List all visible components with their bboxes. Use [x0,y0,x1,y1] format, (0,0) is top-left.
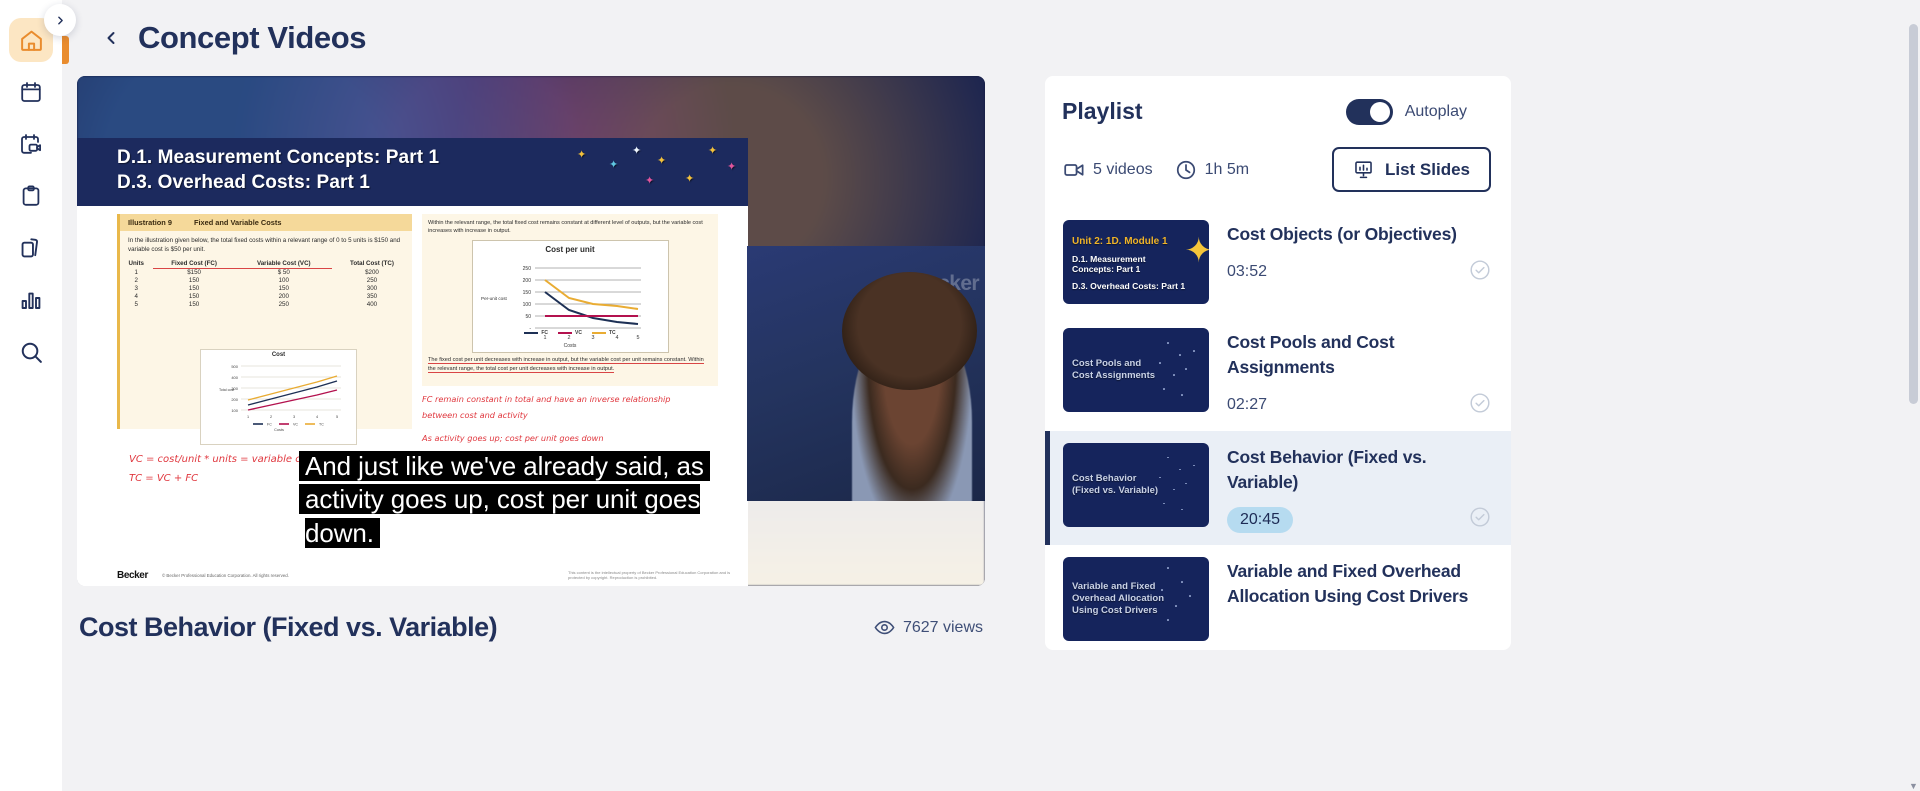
svg-text:5: 5 [336,415,338,419]
legend-label: VC [575,330,582,336]
list-slides-button[interactable]: List Slides [1332,147,1491,192]
cell: 2 [120,277,153,285]
cards-icon [19,236,44,261]
playlist-thumbnail: Cost Behavior (Fixed vs. Variable) [1063,443,1209,527]
table-row: 4 150 200 350 [120,293,412,301]
playlist-item-duration: 20:45 [1227,507,1293,533]
legend-fc: FC [524,330,548,336]
sidebar-item-search[interactable] [9,330,53,374]
illustration-table: Units Fixed Cost (FC) Variable Cost (VC)… [120,259,412,309]
playlist-thumbnail: Cost Pools and Cost Assignments [1063,328,1209,412]
svg-text:200: 200 [231,397,238,402]
svg-text:400: 400 [231,375,238,380]
sidebar-item-performance[interactable] [9,278,53,322]
sparkle-icon: ✦ [685,174,694,185]
playlist-item-title: Variable and Fixed Overhead Allocation U… [1227,559,1491,609]
playlist-item-meta: 02:27 [1227,392,1491,419]
thumbnail-text: Variable and Fixed Overhead Allocation U… [1072,582,1164,618]
legend-vc: VC [558,330,582,336]
svg-text:FC: FC [267,423,272,427]
playlist-item-body: Cost Objects (or Objectives) 03:52 [1227,220,1491,286]
right-explanation-card: Within the relevant range, the total fix… [422,214,718,386]
views-count: 7627 views [903,619,983,637]
left-nav-rail [0,0,62,791]
cost-per-unit-legend: FC VC TC [473,330,668,336]
cell: $200 [332,268,412,277]
cost-per-unit-chart: Cost per unit 250200150 [472,240,669,353]
scrollbar-thumb[interactable] [1909,24,1918,404]
thumbnail-line: Using Cost Drivers [1072,605,1164,617]
svg-text:3: 3 [293,415,295,419]
playlist-item-meta: 20:45 [1227,506,1491,533]
annotation-left: VC = cost/unit * units = variable costs … [129,450,321,488]
slide-footer-legal: This content is the intellectual propert… [568,570,738,580]
sidebar-item-calendar[interactable] [9,70,53,114]
player-column: D.1. Measurement Concepts: Part 1 D.3. O… [77,76,1015,650]
legend-label: TC [609,330,616,336]
calendar-video-icon [19,132,43,156]
becker-logo: Becker [117,570,148,581]
playlist-item-title: Cost Pools and Cost Assignments [1227,330,1491,380]
legend-label: FC [541,330,548,336]
right-card-footer-text: The fixed cost per unit decreases with i… [428,357,704,372]
annotation-line: As activity goes up; cost per unit goes … [422,431,722,447]
caption-line-2: activity goes up, cost per unit goes dow… [305,484,700,547]
thumbnail-line: D.3. Overhead Costs: Part 1 [1072,281,1185,292]
cell: 150 [153,301,236,309]
eye-icon [874,617,895,638]
sidebar-item-assignments[interactable] [9,174,53,218]
cell: 4 [120,293,153,301]
content-row: D.1. Measurement Concepts: Part 1 D.3. O… [62,76,1920,650]
sparkle-icon: ✦ [708,146,717,157]
playlist-item-body: Cost Behavior (Fixed vs. Variable) 20:45 [1227,443,1491,534]
svg-text:500: 500 [231,364,238,369]
playlist-items: Unit 2: 1D. Module 1 D.1. Measurement Co… [1045,208,1511,650]
rail-expand-button[interactable] [44,4,76,36]
search-icon [19,340,44,365]
thumbnail-line: Concepts: Part 1 [1072,264,1185,275]
thumbnail-text: Unit 2: 1D. Module 1 D.1. Measurement Co… [1072,236,1185,292]
clipboard-icon [19,184,43,208]
autoplay-control: Autoplay [1346,99,1467,125]
table-row: 2 150 100 250 [120,277,412,285]
playlist-thumbnail: Unit 2: 1D. Module 1 D.1. Measurement Co… [1063,220,1209,304]
cell: 400 [332,301,412,309]
page-title: Concept Videos [138,20,366,56]
video-info-row: Cost Behavior (Fixed vs. Variable) 7627 … [77,586,985,643]
calendar-icon [19,80,43,104]
sparkle-icon: ✦ [657,156,666,167]
main-area: Concept Videos D.1. Measurement Concepts… [62,0,1920,791]
slide-heading-line1: D.1. Measurement Concepts: Part 1 [117,146,734,171]
mini-chart-plot: 500400 300200100 Total cost 123 [201,358,358,432]
clock-icon [1175,159,1197,181]
thumbnail-line: (Fixed vs. Variable) [1072,485,1158,497]
col-fc: Fixed Cost (FC) [153,259,236,269]
thumbnail-text: Cost Pools and Cost Assignments [1072,358,1155,382]
list-slides-label: List Slides [1385,160,1470,180]
app-root: Concept Videos D.1. Measurement Concepts… [0,0,1920,791]
annotation-line: VC = cost/unit * units = variable costs [129,450,321,469]
svg-text:Total cost: Total cost [219,388,234,392]
svg-text:VC: VC [293,423,298,427]
illustration-banner: Illustration 9 Fixed and Variable Costs [120,214,412,231]
cell: 150 [153,293,236,301]
thumbnail-line: Cost Assignments [1072,370,1155,382]
svg-text:4: 4 [316,415,318,419]
views-counter: 7627 views [874,617,983,638]
cell: 300 [332,285,412,293]
back-button[interactable] [94,21,128,55]
playlist-meta: 5 videos 1h 5m List [1045,125,1511,192]
sparkle-icon: ✦ [577,150,586,161]
cell: 150 [153,277,236,285]
svg-text:100: 100 [231,408,238,413]
video-title: Cost Behavior (Fixed vs. Variable) [79,612,497,643]
cell: 1 [120,268,153,277]
svg-text:100: 100 [522,302,531,308]
cell: 250 [332,277,412,285]
cell: 150 [236,285,332,293]
bar-chart-icon [19,288,43,312]
col-units: Units [120,259,153,269]
svg-text:1: 1 [247,415,249,419]
duration-meta: 1h 5m [1175,159,1249,181]
sparkle-icon: ✦ [645,176,654,187]
cell: 3 [120,285,153,293]
chevron-right-icon [54,14,67,27]
playlist-item-duration: 02:27 [1227,396,1267,414]
cost-per-unit-xlabel: Costs [473,343,668,349]
slide-header: D.1. Measurement Concepts: Part 1 D.3. O… [77,138,748,206]
thumbnail-line: Variable and Fixed [1072,582,1164,594]
playlist-item-body: Variable and Fixed Overhead Allocation U… [1227,557,1491,621]
thumbnail-line: Cost Pools and [1072,358,1155,370]
sparkle-icon: ✦ [727,162,736,173]
thumbnail-text: Cost Behavior (Fixed vs. Variable) [1072,473,1158,497]
right-card-intro: Within the relevant range, the total fix… [422,214,718,238]
playlist-item-3[interactable]: Cost Behavior (Fixed vs. Variable) Cost … [1045,431,1511,546]
cell: 100 [236,277,332,285]
page-scrollbar[interactable]: ▼ [1909,6,1918,791]
video-count-meta: 5 videos [1063,159,1153,181]
playlist-item-title: Cost Objects (or Objectives) [1227,222,1491,247]
thumbnail-line: Cost Behavior [1072,473,1158,485]
presenter-hair [842,272,977,390]
slide-footer: Becker © Becker Professional Education C… [77,564,748,586]
presentation-icon [1353,159,1374,180]
playlist-title: Playlist [1062,98,1143,125]
svg-text:2: 2 [270,415,272,419]
annotation-line: FC remain constant in total and have an … [422,392,722,408]
scroll-down-arrow[interactable]: ▼ [1909,781,1918,791]
presenter-video: Becker [747,246,985,501]
sparkle-icon: ✦ [632,146,641,157]
mini-chart-title: Cost [201,350,356,358]
playlist-item-2[interactable]: Cost Pools and Cost Assignments Cost Poo… [1045,316,1511,431]
table-header-row: Units Fixed Cost (FC) Variable Cost (VC)… [120,259,412,269]
cell: 150 [153,285,236,293]
thumbnail-line: D.1. Measurement [1072,254,1185,265]
playlist-thumbnail: Variable and Fixed Overhead Allocation U… [1063,557,1209,641]
playlist-header: Playlist Autoplay [1045,76,1511,125]
legend-tc: TC [592,330,616,336]
cost-per-unit-ylabel: Per-unit cost [481,296,508,301]
caption-line-1: And just like we've already said, as [305,451,704,481]
thumbnail-line: Unit 2: 1D. Module 1 [1072,236,1185,249]
chevron-left-icon [101,28,121,48]
cell: 350 [332,293,412,301]
svg-text:250: 250 [522,266,531,272]
cell: $ 50 [236,268,332,277]
sidebar-item-live-session[interactable] [9,122,53,166]
cell: 200 [236,293,332,301]
cell: 5 [120,301,153,309]
slide-heading-line2: D.3. Overhead Costs: Part 1 [117,171,734,196]
video-camera-icon [1063,159,1085,181]
svg-text:50: 50 [525,314,531,320]
table-row: 5 150 250 400 [120,301,412,309]
illustration-title: Fixed and Variable Costs [194,218,282,227]
playlist-item-4[interactable]: Variable and Fixed Overhead Allocation U… [1045,545,1511,650]
cost-per-unit-title: Cost per unit [473,241,668,254]
sparkle-icon: ✦ [609,160,618,171]
playlist-item-body: Cost Pools and Cost Assignments 02:27 [1227,328,1491,419]
col-tc: Total Cost (TC) [332,259,412,269]
home-icon [19,28,44,53]
check-circle-icon[interactable] [1469,392,1491,419]
video-caption: And just like we've already said, as act… [305,450,755,550]
autoplay-toggle[interactable] [1346,99,1393,125]
mini-chart-xlabel: Costs [274,428,284,432]
col-vc: Variable Cost (VC) [236,259,332,269]
svg-text:150: 150 [522,290,531,296]
playlist-duration: 1h 5m [1205,161,1249,179]
sidebar-item-flashcards[interactable] [9,226,53,270]
playlist-item-meta: 03:52 [1227,259,1491,286]
thumbnail-line: Overhead Allocation [1072,593,1164,605]
playlist-item-title: Cost Behavior (Fixed vs. Variable) [1227,445,1491,495]
check-circle-icon[interactable] [1469,506,1491,533]
playlist-item-duration: 03:52 [1227,263,1267,281]
annotation-right: FC remain constant in total and have an … [422,392,722,447]
cell: 250 [236,301,332,309]
illustration-label: Illustration 9 [128,218,172,227]
video-count: 5 videos [1093,161,1153,179]
annotation-line: TC = VC + FC [129,469,321,488]
svg-text:200: 200 [522,278,531,284]
check-circle-icon[interactable] [1469,259,1491,286]
page-header: Concept Videos [62,0,1920,76]
annotation-line: between cost and activity [422,408,722,424]
video-player[interactable]: D.1. Measurement Concepts: Part 1 D.3. O… [77,76,985,586]
table-row: 1 $150 $ 50 $200 [120,268,412,277]
illustration-intro: In the illustration given below, the tot… [120,231,412,257]
sparkle-icon: ✦ [1185,234,1210,268]
playlist-item-1[interactable]: Unit 2: 1D. Module 1 D.1. Measurement Co… [1045,208,1511,316]
svg-text:TC: TC [319,423,324,427]
cell: $150 [153,268,236,277]
table-row: 3 150 150 300 [120,285,412,293]
becker-copyright: © Becker Professional Education Corporat… [162,573,289,578]
mini-cost-chart: Cost 500400 [200,349,357,445]
playlist-panel: Playlist Autoplay 5 videos [1045,76,1511,650]
illustration-card: Illustration 9 Fixed and Variable Costs … [117,214,412,429]
autoplay-label: Autoplay [1405,103,1467,121]
right-card-footer: The fixed cost per unit decreases with i… [422,353,718,376]
